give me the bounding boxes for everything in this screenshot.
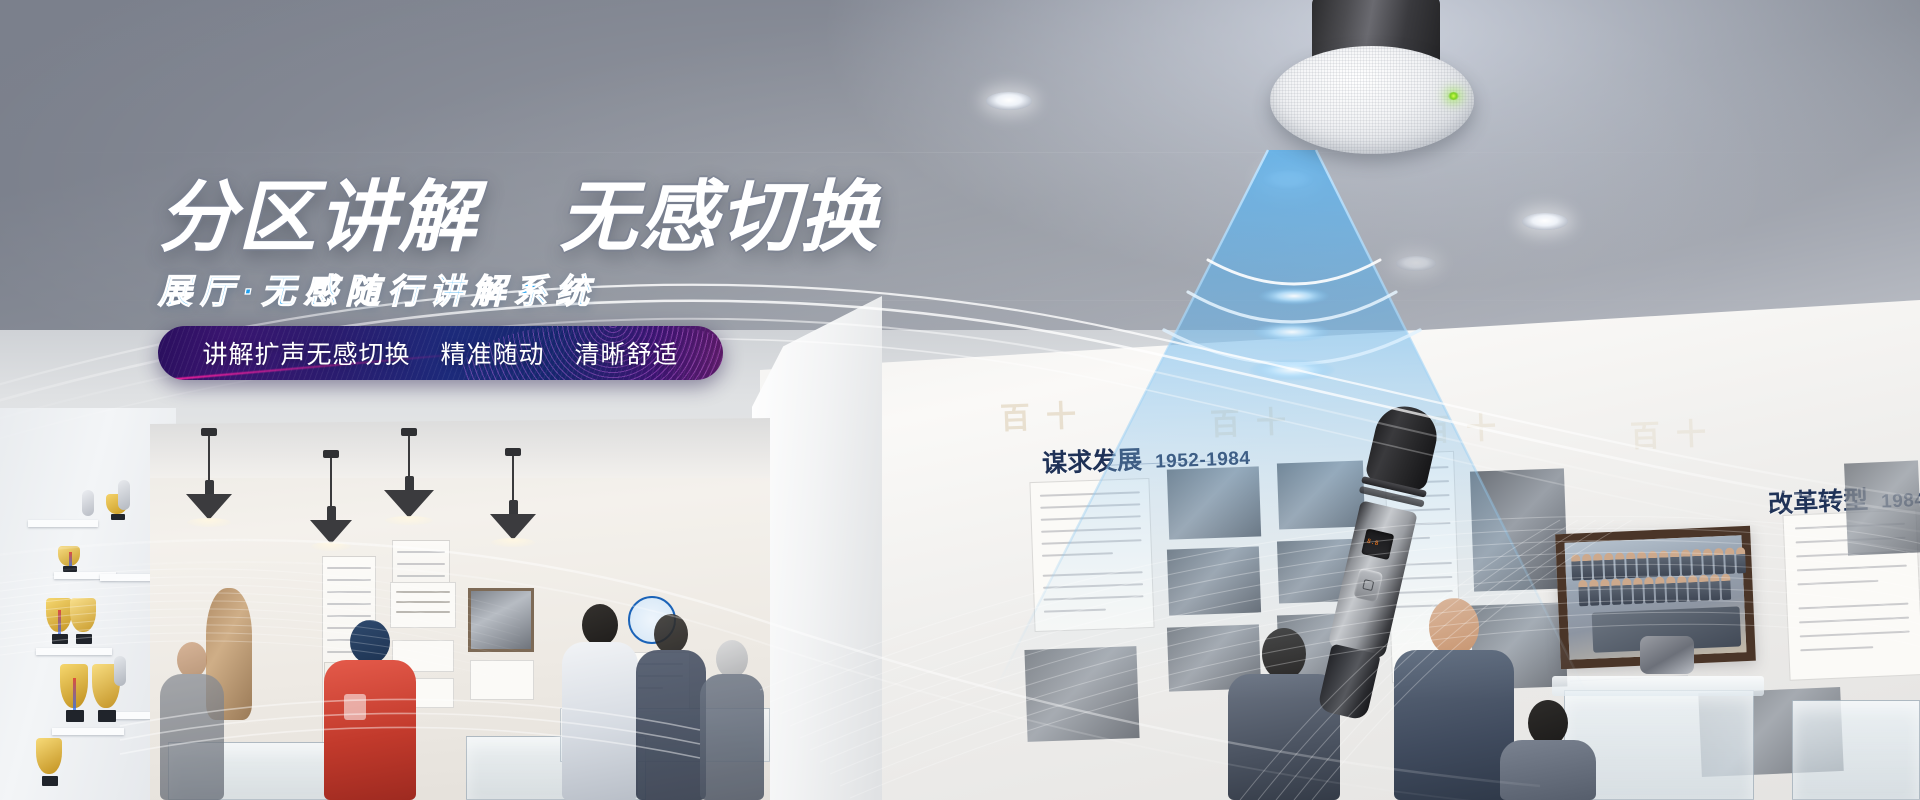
- hall-ceiling: [150, 418, 770, 478]
- pendant-lamp-icon: [490, 448, 536, 554]
- wall-photo: [1844, 460, 1920, 555]
- speaker-led-indicator: [1448, 92, 1459, 100]
- wall-header-title: 谋求发展: [1042, 446, 1143, 478]
- pedestal-top: [1552, 676, 1764, 696]
- downlight-icon: [1396, 256, 1436, 271]
- power-icon: [1362, 579, 1374, 591]
- feature-item-3: 清晰舒适: [575, 335, 679, 371]
- exhibit-artifact: [1640, 636, 1694, 674]
- trophy-shelf: [52, 728, 124, 735]
- feature-item-2: 精准随动: [440, 335, 544, 371]
- wall-watermark: 百十: [999, 390, 1093, 437]
- visitor: [324, 620, 416, 800]
- trophy-statuette-icon: [82, 490, 96, 522]
- downlight-icon: [1262, 170, 1314, 190]
- pendant-lamp-icon: [384, 428, 434, 538]
- main-headline: 分区讲解 无感切换: [158, 178, 918, 258]
- wall-photo: [1470, 468, 1568, 591]
- pendant-lamp-icon: [310, 450, 352, 554]
- visitor: [562, 604, 638, 800]
- visitor-badge: [344, 694, 366, 720]
- visitor: [160, 642, 224, 800]
- hall-photo-panel: [470, 660, 534, 700]
- headline-part-1: 分区讲解: [158, 173, 478, 261]
- wall-photo: [1167, 466, 1261, 539]
- feature-pill: 讲解扩声无感切换 精准随动 清晰舒适: [158, 326, 723, 380]
- sub-headline: 展厅·无感随行讲解系统: [158, 264, 918, 313]
- trophy-icon: [60, 664, 90, 726]
- visitor: [1500, 700, 1596, 800]
- mic-handle: [1317, 643, 1381, 721]
- wall-photo: [1167, 546, 1261, 615]
- feature-item-1: 讲解扩声无感切换: [202, 335, 410, 371]
- trophy-shelf: [36, 648, 112, 655]
- visitor: [700, 640, 764, 800]
- ceiling-edge: [0, 152, 1920, 153]
- exhibit-pedestal: [1792, 700, 1920, 800]
- headline-part-2: 无感切换: [559, 173, 879, 261]
- wall-text-panel: [1029, 478, 1154, 632]
- wall-watermark: 百十: [1629, 408, 1723, 455]
- ceiling-speaker: [1262, 0, 1482, 156]
- downlight-icon: [986, 92, 1032, 110]
- pendant-lamp-icon: [186, 428, 232, 536]
- hall-portrait-frame: [468, 588, 534, 652]
- trophy-icon: [58, 546, 84, 572]
- mic-display-text: 8.8: [1366, 538, 1379, 547]
- wall-photo: [1024, 646, 1139, 742]
- wall-corner-column: [752, 296, 882, 800]
- trophy-icon: [70, 598, 98, 648]
- visitor: [636, 614, 706, 800]
- hero-banner: 百十 百十 百十 百十 谋求发展 1952-1984 改革转型 1984-201…: [0, 0, 1920, 800]
- trophy-icon: [36, 738, 64, 790]
- trophy-statuette-icon: [114, 656, 128, 692]
- trophy-statuette-icon: [118, 480, 132, 516]
- speaker-grille: [1270, 46, 1474, 154]
- scene-background: 百十 百十 百十 百十 谋求发展 1952-1984 改革转型 1984-201…: [0, 0, 1920, 800]
- headline-block: 分区讲解 无感切换 展厅·无感随行讲解系统 讲解扩声无感切换 精准随动 清晰舒适: [158, 178, 918, 313]
- downlight-icon: [1522, 213, 1568, 230]
